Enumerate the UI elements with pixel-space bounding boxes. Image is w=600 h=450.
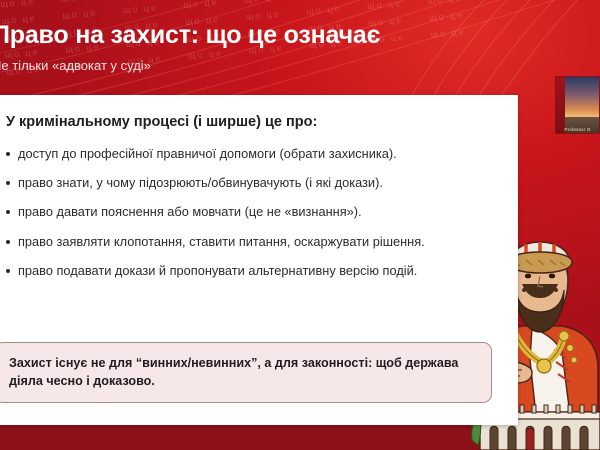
slide-header: Право на захист: що це означає Не тільки…	[0, 22, 512, 73]
presenter-video-thumbnail[interactable]: Professor O	[555, 76, 600, 134]
thumbnail-side-strip	[556, 77, 565, 133]
list-item: право знати, у чому підозрюють/обвинувач…	[6, 174, 502, 192]
content-heading: У кримінальному процесі (і ширше) це про…	[6, 113, 502, 131]
list-item: право подавати докази й пропонувати альт…	[6, 262, 502, 280]
presentation-slide: що цещо цещо цещо цещо цещо цещо цещо це…	[0, 0, 600, 450]
callout-text: Захист існує не для “винних/невинних”, а…	[9, 354, 477, 391]
watermark-token: що це	[0, 0, 36, 9]
callout-box: Захист існує не для “винних/невинних”, а…	[0, 342, 492, 404]
presenter-name-label: Professor O	[556, 127, 599, 132]
slide-title: Право на захист: що це означає	[0, 22, 512, 48]
list-item: право заявляти клопотання, ставити питан…	[6, 233, 502, 251]
content-card: У кримінальному процесі (і ширше) це про…	[0, 95, 518, 425]
list-item: право давати пояснення або мовчати (це н…	[6, 203, 502, 221]
list-item: доступ до професійної правничої допомоги…	[6, 145, 502, 163]
slide-subtitle: Не тільки «адвокат у суді»	[0, 58, 512, 73]
bullet-list: доступ до професійної правничої допомоги…	[6, 145, 502, 280]
